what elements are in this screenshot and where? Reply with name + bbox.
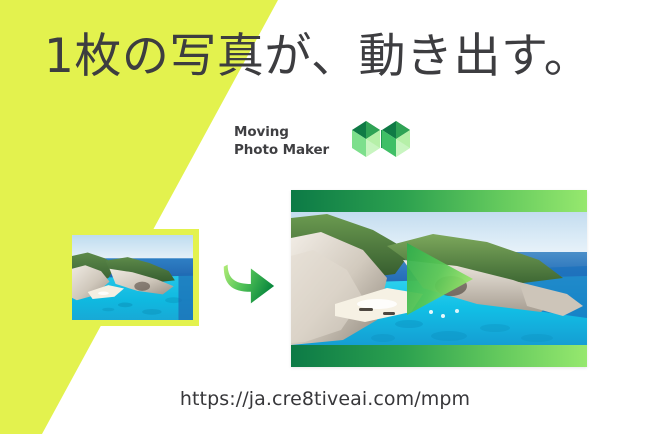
curved-arrow-right-icon: [216, 253, 278, 315]
video-top-bar: [291, 190, 587, 212]
play-triangle-icon[interactable]: [403, 241, 475, 317]
brand-name-line1: Moving: [234, 124, 289, 140]
video-frame-image: [291, 212, 587, 345]
moving-photo-maker-diamond-logo-icon: [351, 119, 411, 163]
video-bottom-bar: [291, 345, 587, 367]
source-photo-frame: [66, 229, 199, 326]
brand-name: MovingPhoto Maker: [234, 123, 329, 159]
brand-lockup: MovingPhoto Maker: [234, 119, 411, 163]
source-photo-image: [72, 235, 193, 320]
promo-poster: 1枚の写真が、動き出す。 MovingPhoto Maker: [0, 0, 650, 434]
site-url-link[interactable]: https://ja.cre8tiveai.com/mpm: [0, 388, 650, 410]
page-title: 1枚の写真が、動き出す。: [44, 30, 624, 85]
brand-name-line2: Photo Maker: [234, 142, 329, 158]
output-video-player[interactable]: [291, 190, 587, 367]
